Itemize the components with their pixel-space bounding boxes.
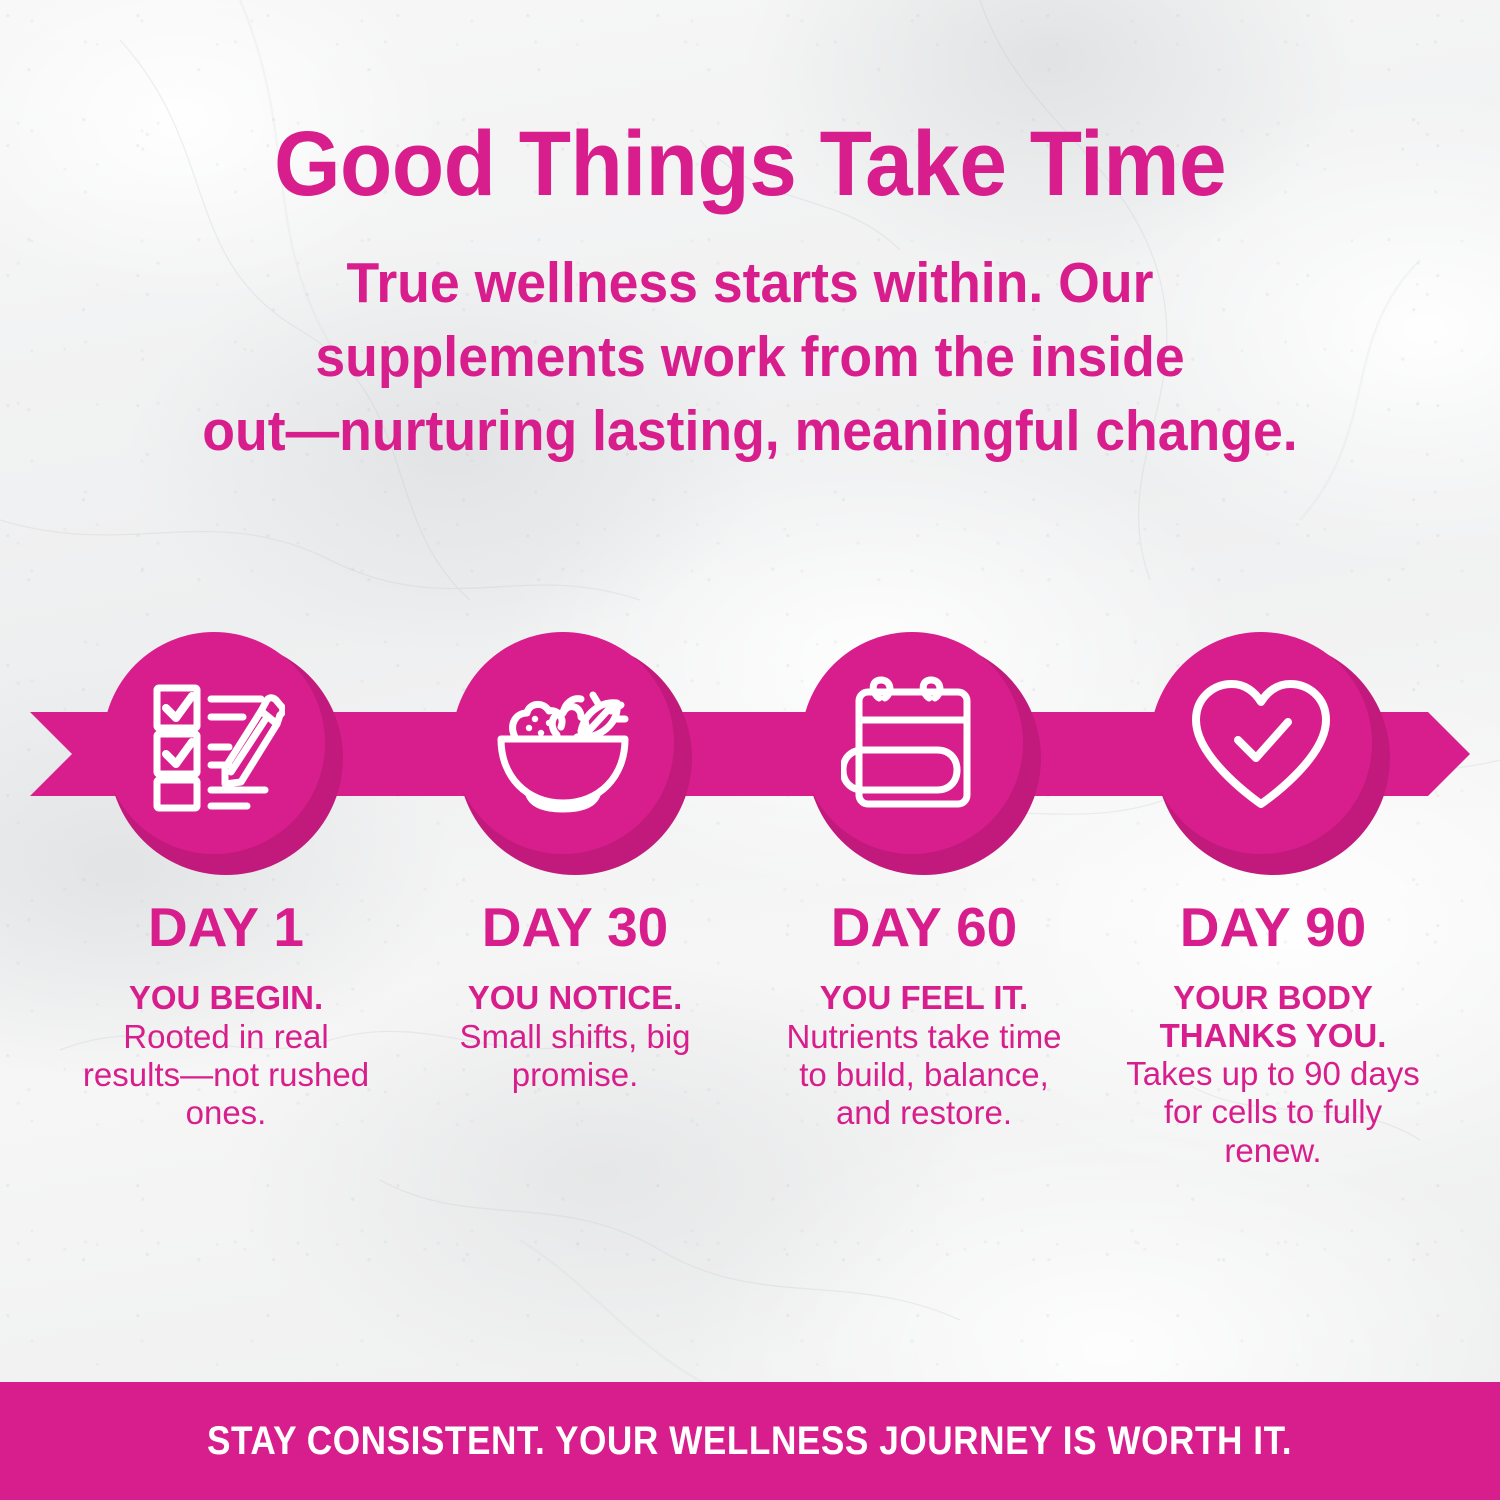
calendar-capsule-icon [841, 672, 983, 814]
checklist-pencil-icon [143, 672, 285, 814]
heart-check-icon [1186, 672, 1336, 814]
day-label-30: DAY 30 [425, 900, 725, 955]
day-description-1: Rooted in real results—not rushed ones. [76, 1018, 376, 1133]
page-title: Good Things Take Time [53, 118, 1448, 212]
header-block: Good Things Take Time True wellness star… [0, 118, 1500, 468]
subtitle-line-3: out—nurturing lasting, meaningful change… [45, 394, 1455, 468]
milestone-node-day-60[interactable] [801, 632, 1047, 878]
circle-disc-day-60 [801, 632, 1023, 854]
day-description-60: Nutrients take time to build, balance, a… [774, 1018, 1074, 1133]
day-lead-1: YOU BEGIN. [76, 979, 376, 1017]
milestone-caption-day-90: DAY 90 YOUR BODY THANKS YOU. Takes up to… [1123, 900, 1423, 1170]
salad-bowl-icon [489, 669, 637, 817]
milestone-node-day-90[interactable] [1150, 632, 1396, 878]
infographic-poster: Good Things Take Time True wellness star… [0, 0, 1500, 1500]
circle-disc-day-30 [452, 632, 674, 854]
day-label-60: DAY 60 [774, 900, 1074, 955]
footer-tagline: STAY CONSISTENT. YOUR WELLNESS JOURNEY I… [207, 1419, 1292, 1464]
day-label-90: DAY 90 [1123, 900, 1423, 955]
milestone-node-day-30[interactable] [452, 632, 698, 878]
milestone-caption-day-30: DAY 30 YOU NOTICE. Small shifts, big pro… [425, 900, 725, 1094]
day-label-1: DAY 1 [76, 900, 376, 955]
day-lead-90: YOUR BODY THANKS YOU. [1123, 979, 1423, 1054]
subtitle-line-2: supplements work from the inside [45, 320, 1455, 394]
circle-disc-day-1 [103, 632, 325, 854]
footer-banner: STAY CONSISTENT. YOUR WELLNESS JOURNEY I… [0, 1382, 1500, 1500]
milestone-node-day-1[interactable] [103, 632, 349, 878]
milestone-caption-day-60: DAY 60 YOU FEEL IT. Nutrients take time … [774, 900, 1074, 1132]
day-description-90: Takes up to 90 days for cells to fully r… [1123, 1055, 1423, 1170]
page-subtitle: True wellness starts within. Our supplem… [45, 246, 1455, 468]
circle-disc-day-90 [1150, 632, 1372, 854]
milestone-caption-day-1: DAY 1 YOU BEGIN. Rooted in real results—… [76, 900, 376, 1132]
subtitle-line-1: True wellness starts within. Our [45, 246, 1455, 320]
milestone-caption-row: DAY 1 YOU BEGIN. Rooted in real results—… [0, 900, 1500, 1230]
day-description-30: Small shifts, big promise. [425, 1018, 725, 1095]
day-lead-60: YOU FEEL IT. [774, 979, 1074, 1017]
day-lead-30: YOU NOTICE. [425, 979, 725, 1017]
milestone-circle-row [0, 632, 1500, 880]
